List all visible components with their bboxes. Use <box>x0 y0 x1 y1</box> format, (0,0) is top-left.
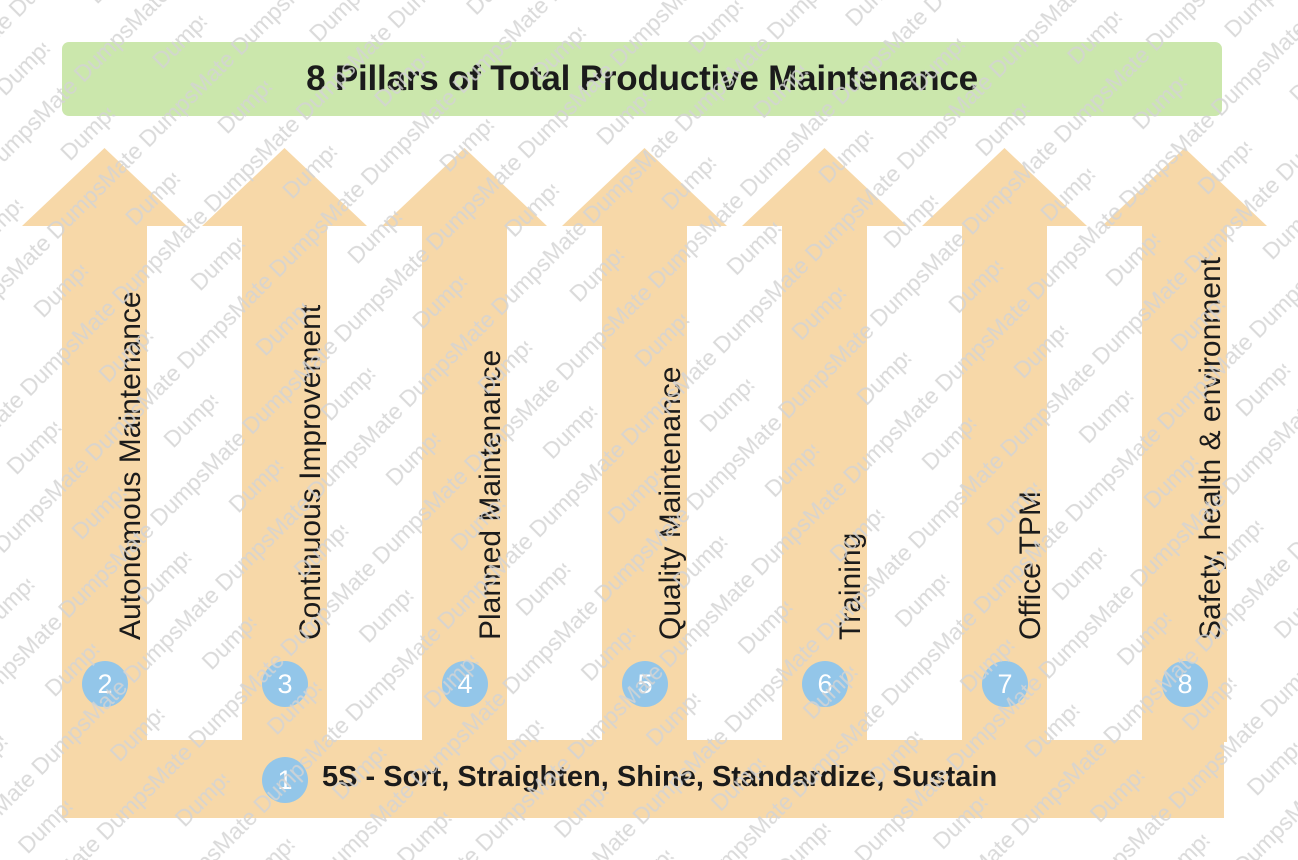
pillar-arrow-2 <box>22 148 187 742</box>
pillar-arrow-5 <box>562 148 727 742</box>
pillar-badge-4: 4 <box>442 661 488 707</box>
pillar-badge-7: 7 <box>982 661 1028 707</box>
pillar-badge-6: 6 <box>802 661 848 707</box>
pillar-badge-8: 8 <box>1162 661 1208 707</box>
diagram-canvas: 8 Pillars of Total Productive Maintenanc… <box>0 0 1298 860</box>
pillar-label-4: Planned Maintenance <box>476 350 506 640</box>
pillar-arrow-4 <box>382 148 547 742</box>
foundation-badge: 1 <box>262 757 308 803</box>
pillar-badge-3: 3 <box>262 661 308 707</box>
pillar-badge-5: 5 <box>622 661 668 707</box>
pillar-label-5: Quality Maintenance <box>656 367 686 641</box>
pillar-arrow-6 <box>742 148 907 742</box>
foundation-label: 5S - Sort, Straighten, Shine, Standardiz… <box>322 761 997 794</box>
pillar-arrow-8 <box>1102 148 1267 742</box>
pillar-label-6: Training <box>836 533 866 640</box>
pillar-label-3: Continuous Improvement <box>296 305 326 640</box>
pillars-diagram <box>0 0 1298 860</box>
pillar-badge-2: 2 <box>82 661 128 707</box>
pillar-label-2: Autonomous Maintenance <box>116 291 146 640</box>
pillar-label-7: Office TPM <box>1016 491 1046 640</box>
pillar-label-8: Safety, health & environment <box>1196 257 1226 640</box>
pillar-arrow-7 <box>922 148 1087 742</box>
pillar-arrow-3 <box>202 148 367 742</box>
